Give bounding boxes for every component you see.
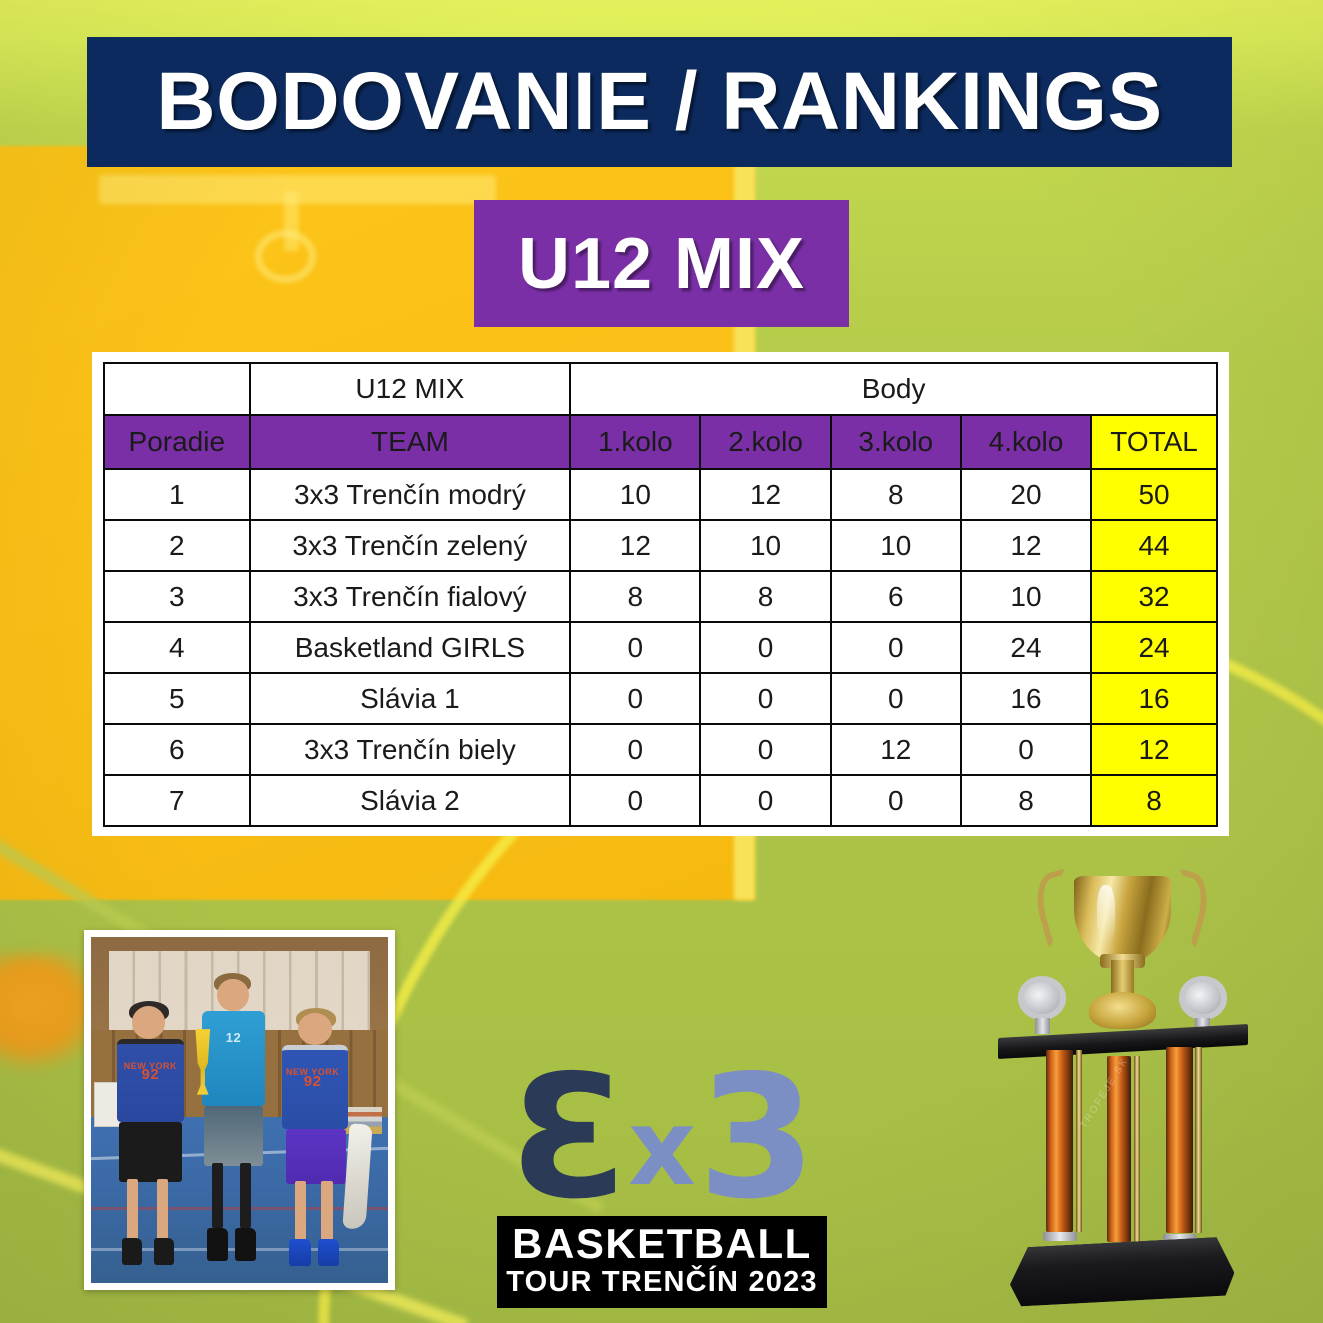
player-leg (127, 1179, 138, 1244)
team-photo-image: NEW YORK 92 12 (91, 937, 388, 1283)
jersey-number: 92 (280, 1073, 346, 1090)
player-shoe (289, 1239, 310, 1265)
table-row: 4 Basketland GIRLS 0 0 0 24 24 (104, 622, 1217, 673)
trophy-cup (1074, 876, 1171, 962)
cell-team: 3x3 Trenčín modrý (250, 469, 571, 520)
cell-round1: 12 (570, 520, 700, 571)
cell-round4: 0 (961, 724, 1091, 775)
header-blank-cell (104, 363, 250, 415)
table-row: 5 Slávia 1 0 0 0 16 16 (104, 673, 1217, 724)
logo-line-tour: TOUR TRENČÍN 2023 (497, 1266, 827, 1299)
cell-rank: 2 (104, 520, 250, 571)
player-shorts (119, 1122, 182, 1181)
logo-three-mirrored-glyph: 3 (508, 1065, 626, 1211)
trophy-side-figure-left (1018, 976, 1066, 1019)
table-row: 1 3x3 Trenčín modrý 10 12 8 20 50 (104, 469, 1217, 520)
player-shoe (235, 1228, 256, 1261)
player-leg (321, 1181, 333, 1241)
trophy-side-stem-left (1035, 1018, 1050, 1034)
trophy-base (1010, 1237, 1234, 1308)
column-header-round4: 4.kolo (961, 415, 1091, 469)
player-head (132, 1006, 165, 1038)
column-header-team: TEAM (250, 415, 571, 469)
logo-three-glyph: 3 (698, 1065, 816, 1211)
cell-round2: 0 (700, 724, 830, 775)
player-right: NEW YORK 92 (275, 1013, 364, 1276)
player-head (298, 1013, 332, 1045)
trophy-watermark-text: TROFEJE SK (1078, 1068, 1152, 1148)
cell-team: Slávia 1 (250, 673, 571, 724)
cell-team: Basketland GIRLS (250, 622, 571, 673)
cell-round2: 0 (700, 775, 830, 826)
cell-round4: 20 (961, 469, 1091, 520)
cell-round2: 0 (700, 622, 830, 673)
trophy-column-trim (1195, 1047, 1201, 1234)
cell-rank: 5 (104, 673, 250, 724)
player-shorts (204, 1106, 264, 1166)
points-group-header: Body (570, 363, 1217, 415)
player-head (217, 979, 249, 1012)
trophy-wreath (1089, 992, 1155, 1028)
column-header-total: TOTAL (1091, 415, 1217, 469)
cell-round1: 8 (570, 571, 700, 622)
cell-total: 16 (1091, 673, 1217, 724)
table-subtitle-cell: U12 MIX (250, 363, 571, 415)
table-row: 2 3x3 Trenčín zelený 12 10 10 12 44 (104, 520, 1217, 571)
trophy-side-figure-right (1179, 976, 1227, 1019)
cell-total: 44 (1091, 520, 1217, 571)
table-header-top-row: U12 MIX Body (104, 363, 1217, 415)
player-leg (240, 1163, 251, 1228)
table-row: 6 3x3 Trenčín biely 0 0 12 0 12 (104, 724, 1217, 775)
jersey-number: 92 (117, 1066, 184, 1083)
cell-round1: 0 (570, 724, 700, 775)
logo-text-band: BASKETBALL TOUR TRENČÍN 2023 (497, 1216, 827, 1308)
cell-rank: 7 (104, 775, 250, 826)
player-leg (157, 1179, 168, 1244)
trophy-column-trim (1076, 1050, 1082, 1232)
cell-total: 12 (1091, 724, 1217, 775)
cell-total: 8 (1091, 775, 1217, 826)
cell-total: 50 (1091, 469, 1217, 520)
rankings-table: U12 MIX Body Poradie TEAM 1.kolo 2.kolo … (103, 362, 1218, 827)
cell-round4: 10 (961, 571, 1091, 622)
cell-rank: 6 (104, 724, 250, 775)
cell-round1: 0 (570, 673, 700, 724)
jersey-number: 12 (202, 1030, 265, 1045)
column-header-round3: 3.kolo (831, 415, 961, 469)
rankings-table-frame: U12 MIX Body Poradie TEAM 1.kolo 2.kolo … (92, 352, 1229, 836)
team-photo: NEW YORK 92 12 (84, 930, 395, 1290)
cell-round4: 12 (961, 520, 1091, 571)
cell-round1: 0 (570, 775, 700, 826)
cell-team: 3x3 Trenčín fialový (250, 571, 571, 622)
table-row: 7 Slávia 2 0 0 0 8 8 (104, 775, 1217, 826)
category-label: U12 MIX (518, 228, 805, 300)
player-shoe (207, 1228, 228, 1261)
cell-round3: 6 (831, 571, 961, 622)
poster-canvas: BODOVANIE / RANKINGS U12 MIX U12 MIX Bod… (0, 0, 1323, 1323)
cell-round3: 0 (831, 775, 961, 826)
category-badge: U12 MIX (474, 200, 849, 327)
cell-total: 24 (1091, 622, 1217, 673)
table-row: 3 3x3 Trenčín fialový 8 8 6 10 32 (104, 571, 1217, 622)
cell-round2: 0 (700, 673, 830, 724)
player-jersey: NEW YORK 92 (282, 1045, 348, 1129)
cell-team: Slávia 2 (250, 775, 571, 826)
trophy-column (1046, 1050, 1073, 1232)
logo-x-glyph: x (628, 1103, 696, 1193)
cell-round1: 0 (570, 622, 700, 673)
player-leg (295, 1181, 307, 1241)
cell-team: 3x3 Trenčín zelený (250, 520, 571, 571)
table-header-columns-row: Poradie TEAM 1.kolo 2.kolo 3.kolo 4.kolo… (104, 415, 1217, 469)
player-middle: 12 (192, 979, 275, 1277)
player-jersey: NEW YORK 92 (117, 1039, 184, 1123)
trophy-image: TROFEJE SK (995, 858, 1250, 1313)
cell-rank: 4 (104, 622, 250, 673)
cell-round3: 12 (831, 724, 961, 775)
column-header-rank: Poradie (104, 415, 250, 469)
player-jersey: 12 (202, 1011, 265, 1106)
cell-round2: 10 (700, 520, 830, 571)
trophy-column (1166, 1047, 1193, 1234)
cell-rank: 3 (104, 571, 250, 622)
cell-round3: 10 (831, 520, 961, 571)
column-header-round1: 1.kolo (570, 415, 700, 469)
cell-round2: 12 (700, 469, 830, 520)
trophy-cup-highlight (1097, 885, 1115, 944)
tournament-logo: 3 x 3 BASKETBALL TOUR TRENČÍN 2023 (497, 1058, 827, 1306)
player-shoe (154, 1238, 174, 1265)
cell-round3: 8 (831, 469, 961, 520)
column-header-round2: 2.kolo (700, 415, 830, 469)
player-shoe (122, 1238, 142, 1265)
page-title: BODOVANIE / RANKINGS (156, 61, 1162, 143)
cell-round2: 8 (700, 571, 830, 622)
cell-rank: 1 (104, 469, 250, 520)
player-leg (212, 1163, 223, 1228)
logo-line-basketball: BASKETBALL (497, 1222, 827, 1266)
trophy-column-cap (1043, 1232, 1076, 1240)
cell-round3: 0 (831, 622, 961, 673)
player-shorts (286, 1129, 347, 1184)
cell-round4: 24 (961, 622, 1091, 673)
cell-team: 3x3 Trenčín biely (250, 724, 571, 775)
cell-total: 32 (1091, 571, 1217, 622)
cell-round4: 8 (961, 775, 1091, 826)
cell-round1: 10 (570, 469, 700, 520)
player-shoe (318, 1239, 339, 1265)
cell-round3: 0 (831, 673, 961, 724)
logo-3x3-mark: 3 x 3 (497, 1058, 827, 1218)
title-banner: BODOVANIE / RANKINGS (87, 37, 1232, 167)
player-left: NEW YORK 92 (109, 1006, 192, 1276)
cell-round4: 16 (961, 673, 1091, 724)
